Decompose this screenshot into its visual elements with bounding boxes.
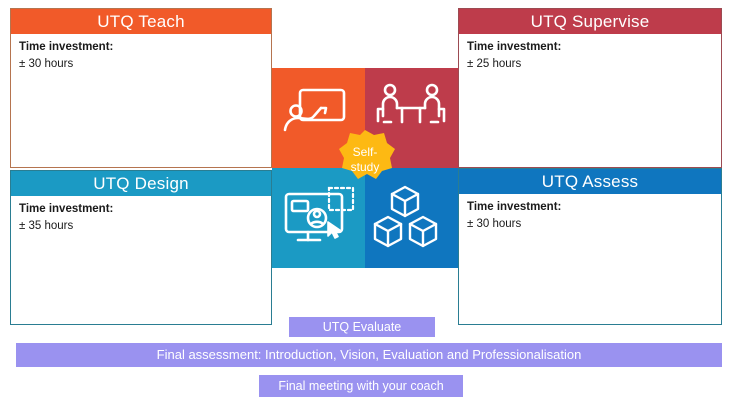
diagram-canvas: UTQ Teach Time investment: ± 30 hours UT… xyxy=(0,0,739,406)
time-investment-label-teach: Time investment: xyxy=(19,40,271,55)
card-body-utq-design: Time investment: ± 35 hours xyxy=(11,196,271,234)
card-utq-teach: UTQ Teach Time investment: ± 30 hours xyxy=(10,8,272,168)
card-utq-assess: UTQ Assess Time investment: ± 30 hours xyxy=(458,168,722,325)
self-study-badge-line1: Self- xyxy=(353,145,378,159)
time-investment-value-assess: ± 30 hours xyxy=(467,216,721,232)
time-investment-label-assess: Time investment: xyxy=(467,200,721,215)
card-header-utq-assess: UTQ Assess xyxy=(459,169,721,194)
card-header-utq-teach: UTQ Teach xyxy=(11,9,271,34)
time-investment-value-supervise: ± 25 hours xyxy=(467,56,721,72)
card-body-utq-teach: Time investment: ± 30 hours xyxy=(11,34,271,72)
center-puzzle-graphic: Self- study xyxy=(272,68,458,268)
self-study-badge-line2: study xyxy=(351,160,380,174)
card-utq-supervise: UTQ Supervise Time investment: ± 25 hour… xyxy=(458,8,722,168)
banner-final-meeting: Final meeting with your coach xyxy=(259,375,463,397)
card-body-utq-supervise: Time investment: ± 25 hours xyxy=(459,34,721,72)
card-header-utq-supervise: UTQ Supervise xyxy=(459,9,721,34)
time-investment-value-teach: ± 30 hours xyxy=(19,56,271,72)
time-investment-label-design: Time investment: xyxy=(19,202,271,217)
time-investment-value-design: ± 35 hours xyxy=(19,218,271,234)
puzzle-piece-assess xyxy=(365,168,458,268)
time-investment-label-supervise: Time investment: xyxy=(467,40,721,55)
banner-utq-evaluate: UTQ Evaluate xyxy=(289,317,435,337)
card-body-utq-assess: Time investment: ± 30 hours xyxy=(459,194,721,232)
card-utq-design: UTQ Design Time investment: ± 35 hours xyxy=(10,170,272,325)
card-header-utq-design: UTQ Design xyxy=(11,171,271,196)
banner-final-assessment: Final assessment: Introduction, Vision, … xyxy=(16,343,722,367)
